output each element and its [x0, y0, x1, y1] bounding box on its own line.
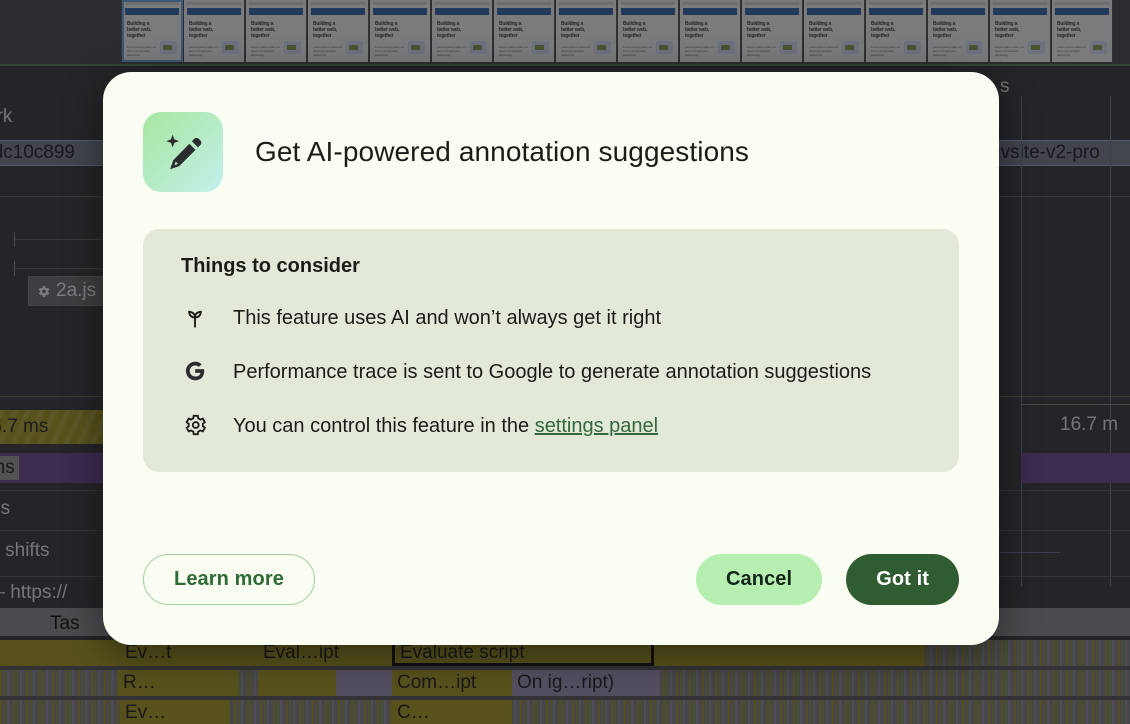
- ai-annotation-consent-dialog: Get AI-powered annotation suggestions Th…: [103, 72, 999, 645]
- primary-actions: Cancel Got it: [696, 554, 959, 605]
- consider-item-data-sent: Performance trace is sent to Google to g…: [181, 356, 931, 388]
- things-to-consider-panel: Things to consider This feature uses AI …: [143, 229, 959, 472]
- dialog-header: Get AI-powered annotation suggestions: [143, 112, 959, 192]
- google-g-icon: [181, 357, 209, 385]
- sprout-icon: [181, 303, 209, 331]
- dialog-actions: Learn more Cancel Got it: [143, 524, 959, 605]
- consider-item-text: Performance trace is sent to Google to g…: [233, 356, 871, 388]
- gear-icon: [181, 411, 209, 439]
- settings-panel-link[interactable]: settings panel: [535, 415, 658, 437]
- cancel-button[interactable]: Cancel: [696, 554, 822, 605]
- consider-item-text: You can control this feature in the sett…: [233, 410, 658, 442]
- consider-item-settings-control: You can control this feature in the sett…: [181, 410, 931, 442]
- dialog-title: Get AI-powered annotation suggestions: [255, 136, 749, 168]
- got-it-button[interactable]: Got it: [846, 554, 959, 605]
- flame-task-label-text: Tas: [50, 613, 80, 635]
- magic-pencil-icon: [143, 112, 223, 192]
- consider-item-ai-accuracy: This feature uses AI and won’t always ge…: [181, 302, 931, 334]
- learn-more-button[interactable]: Learn more: [143, 554, 315, 605]
- things-to-consider-heading: Things to consider: [181, 255, 931, 278]
- consider-item-text-prefix: You can control this feature in the: [233, 415, 535, 437]
- consider-item-text: This feature uses AI and won’t always ge…: [233, 302, 661, 334]
